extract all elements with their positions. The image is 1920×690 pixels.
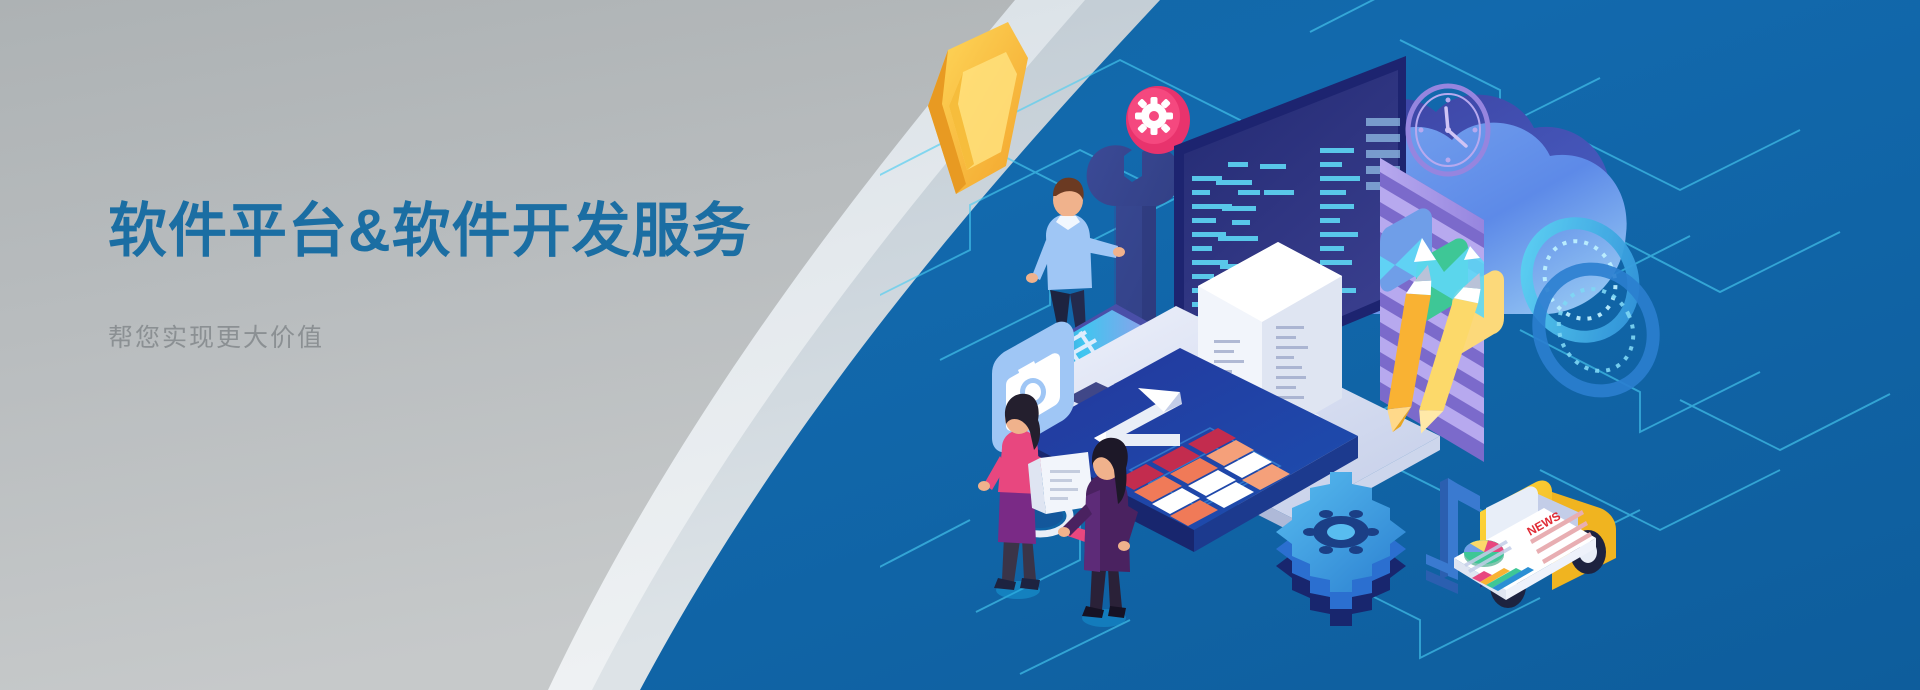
page-title: 软件平台&软件开发服务 (108, 196, 868, 268)
illustration-isometric-scene: NEWS (880, 0, 1920, 690)
hero-banner: NEWS 软件平台&软件开发服务 帮您实现更大价值 (0, 0, 1920, 690)
shield-icon (928, 22, 1028, 194)
banner-copy: 软件平台&软件开发服务 帮您实现更大价值 (108, 196, 868, 354)
page-subtitle: 帮您实现更大价值 (108, 322, 868, 355)
news-card: NEWS (1454, 508, 1596, 600)
clock-icon (1408, 86, 1488, 174)
